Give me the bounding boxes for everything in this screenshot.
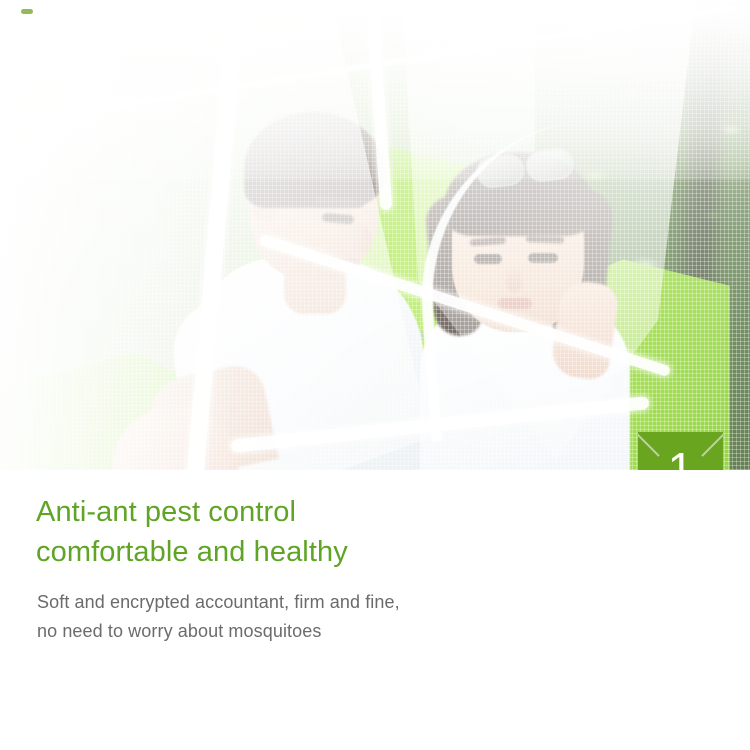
green-dash-mark	[21, 9, 33, 14]
woman-eye-right	[528, 253, 558, 263]
woman-eye-left	[474, 254, 502, 264]
subcopy: Soft and encrypted accountant, firm and …	[37, 588, 400, 646]
woman-eyebrow-right	[526, 235, 564, 243]
hero-photo	[0, 0, 750, 470]
badge-notch-top-left	[638, 432, 660, 457]
badge-notch-top-right	[701, 432, 723, 457]
product-feature-banner: 1 Anti-ant pest control comfortable and …	[0, 0, 750, 750]
text-panel: Anti-ant pest control comfortable and he…	[0, 470, 750, 750]
woman-lips	[498, 298, 532, 309]
step-number-label: 1	[668, 446, 694, 492]
headline: Anti-ant pest control comfortable and he…	[36, 492, 348, 572]
woman-nose	[506, 266, 522, 292]
man-nose	[352, 224, 372, 254]
